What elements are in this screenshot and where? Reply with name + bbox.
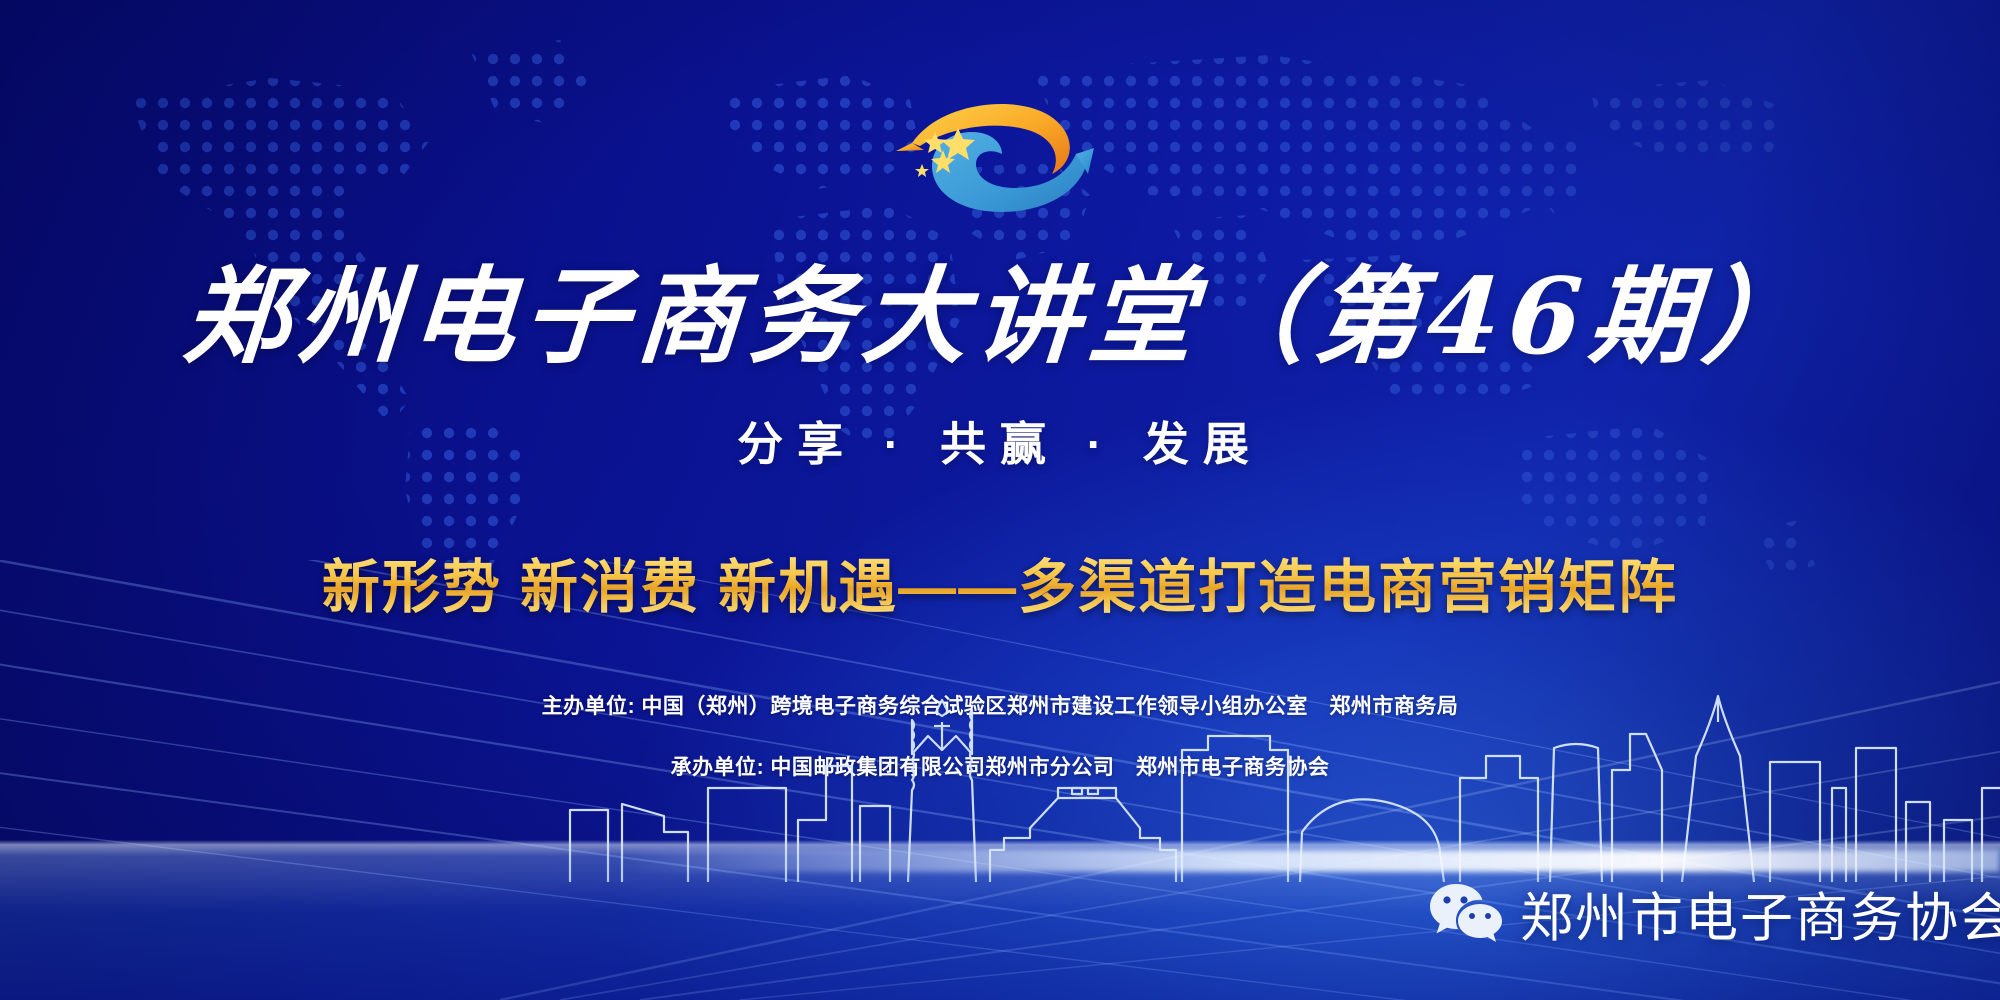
page-title: 郑州电子商务大讲堂（第46期）	[0, 258, 2000, 376]
headline-topic: 新形势 新消费 新机遇——多渠道打造电商营销矩阵	[0, 540, 2000, 624]
event-banner: 郑州电子商务大讲堂（第46期） 分享 · 共赢 · 发展 新形势 新消费 新机遇…	[0, 0, 2000, 1000]
wechat-badge[interactable]: 郑州市电子商务协会	[1430, 876, 2000, 952]
floor-highlight-line	[620, 850, 2000, 872]
wechat-icon	[1430, 882, 1502, 946]
subtitle: 分享 · 共赢 · 发展	[0, 408, 2000, 474]
zhengzhou-ecommerce-logo	[880, 88, 1120, 218]
wechat-account-name: 郑州市电子商务协会	[1520, 876, 2000, 952]
